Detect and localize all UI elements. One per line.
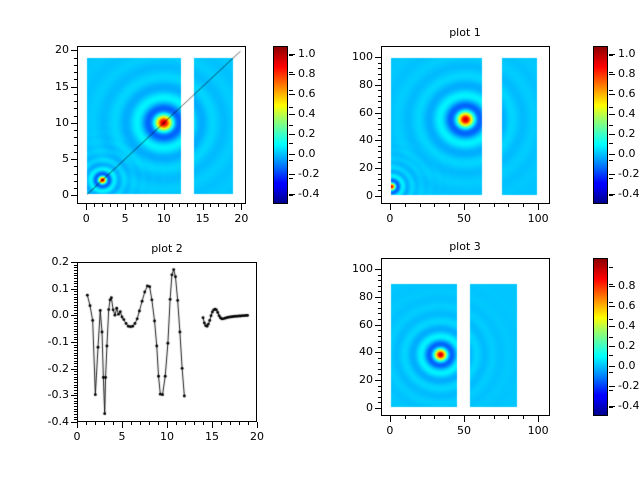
colorbar-tick-label: 0.2 <box>618 127 636 140</box>
colorbar-gradient-plot0 <box>274 47 287 203</box>
colorbar-minor-tick <box>609 160 613 161</box>
x-minor-tick <box>156 204 157 207</box>
colorbar-minor-tick <box>609 390 613 391</box>
y-minor-tick <box>74 286 77 287</box>
colorbar-minor-tick <box>289 160 293 161</box>
y-minor-tick <box>74 329 77 330</box>
y-minor-tick <box>378 179 381 180</box>
y-minor-tick <box>378 347 381 348</box>
y-minor-tick <box>74 273 77 274</box>
x-tick-label: 10 <box>144 212 184 225</box>
x-minor-tick <box>140 422 141 425</box>
colorbar-tick <box>609 154 615 155</box>
x-major-tick <box>167 422 168 428</box>
x-minor-tick <box>523 416 524 419</box>
y-minor-tick <box>378 162 381 163</box>
y-minor-tick <box>74 267 77 268</box>
colorbar-tick <box>289 134 295 135</box>
y-minor-tick <box>74 58 77 59</box>
colorbar-minor-tick <box>609 284 613 285</box>
y-minor-tick <box>74 152 77 153</box>
y-major-tick <box>375 380 381 381</box>
y-tick-label: 60 <box>327 318 373 331</box>
x-tick-label: 15 <box>183 212 223 225</box>
y-major-tick <box>375 168 381 169</box>
y-minor-tick <box>74 323 77 324</box>
colorbar-minor-tick <box>609 125 613 126</box>
colorbar-minor-tick <box>609 195 613 196</box>
colorbar-minor-tick <box>289 125 293 126</box>
plot-frame-plot3 <box>381 258 550 416</box>
colorbar-tick <box>289 174 295 175</box>
y-minor-tick <box>74 331 77 332</box>
y-minor-tick <box>74 339 77 340</box>
y-tick-label: 100 <box>327 262 373 275</box>
y-tick-label: -0.4 <box>23 415 69 428</box>
x-minor-tick <box>117 204 118 207</box>
x-major-tick <box>241 204 242 210</box>
colorbar-tick <box>609 74 615 75</box>
colorbar-tick-label: -0.2 <box>618 379 639 392</box>
x-minor-tick <box>508 416 509 419</box>
colorbar-gradient-plot1 <box>594 47 607 203</box>
y-major-tick <box>71 87 77 88</box>
y-minor-tick <box>74 130 77 131</box>
y-minor-tick <box>74 414 77 415</box>
y-major-tick <box>71 369 77 370</box>
y-minor-tick <box>378 174 381 175</box>
colorbar-minor-tick <box>609 355 613 356</box>
x-minor-tick <box>221 422 222 425</box>
y-major-tick <box>71 422 77 423</box>
y-minor-tick <box>378 79 381 80</box>
x-tick-label: 0 <box>370 212 410 225</box>
colorbar-tick <box>289 114 295 115</box>
colorbar-tick <box>609 326 615 327</box>
y-minor-tick <box>378 386 381 387</box>
colorbar-tick <box>609 134 615 135</box>
y-minor-tick <box>74 297 77 298</box>
colorbar-tick-label: 0.2 <box>298 127 316 140</box>
colorbar-tick <box>289 154 295 155</box>
y-minor-tick <box>378 107 381 108</box>
y-minor-tick <box>74 318 77 319</box>
colorbar-minor-tick <box>609 407 613 408</box>
plot-title-plot2: plot 2 <box>107 242 227 255</box>
x-minor-tick <box>226 204 227 207</box>
y-tick-label: 0 <box>327 189 373 202</box>
y-minor-tick <box>378 374 381 375</box>
y-minor-tick <box>74 382 77 383</box>
y-minor-tick <box>74 355 77 356</box>
y-minor-tick <box>74 337 77 338</box>
y-minor-tick <box>378 68 381 69</box>
x-minor-tick <box>172 204 173 207</box>
colorbar-gradient-plot3 <box>594 259 607 415</box>
y-minor-tick <box>74 326 77 327</box>
y-major-tick <box>71 50 77 51</box>
y-minor-tick <box>378 302 381 303</box>
y-minor-tick <box>74 307 77 308</box>
x-minor-tick <box>110 204 111 207</box>
y-minor-tick <box>74 313 77 314</box>
x-tick-label: 0 <box>370 424 410 437</box>
y-major-tick <box>375 196 381 197</box>
plot-title-plot3: plot 3 <box>405 240 525 253</box>
y-minor-tick <box>74 390 77 391</box>
y-tick-label: 15 <box>23 80 69 93</box>
y-minor-tick <box>74 361 77 362</box>
colorbar-tick <box>609 346 615 347</box>
y-minor-tick <box>378 308 381 309</box>
colorbar-minor-tick <box>289 143 293 144</box>
colorbar-tick-label: 0.8 <box>618 67 636 80</box>
colorbar-tick-label: -0.2 <box>618 167 639 180</box>
y-tick-label: 0 <box>327 401 373 414</box>
x-major-tick <box>538 416 539 422</box>
y-tick-label: 0.2 <box>23 255 69 268</box>
x-major-tick <box>390 204 391 210</box>
y-major-tick <box>375 408 381 409</box>
y-minor-tick <box>74 101 77 102</box>
y-tick-label: 20 <box>327 161 373 174</box>
colorbar-tick <box>609 174 615 175</box>
colorbar-minor-tick <box>289 195 293 196</box>
y-tick-label: 0 <box>23 188 69 201</box>
x-minor-tick <box>210 204 211 207</box>
y-minor-tick <box>378 124 381 125</box>
x-tick-label: 15 <box>192 430 232 443</box>
colorbar-minor-tick <box>609 372 613 373</box>
y-minor-tick <box>74 334 77 335</box>
x-minor-tick <box>523 204 524 207</box>
colorbar-minor-tick <box>609 178 613 179</box>
line-series-canvas <box>78 263 256 421</box>
y-minor-tick <box>74 145 77 146</box>
x-minor-tick <box>234 204 235 207</box>
x-minor-tick <box>131 422 132 425</box>
y-minor-tick <box>378 129 381 130</box>
colorbar-minor-tick <box>609 267 613 268</box>
x-tick-label: 50 <box>444 212 484 225</box>
y-minor-tick <box>378 402 381 403</box>
colorbar-tick-label: 0.4 <box>618 319 636 332</box>
x-minor-tick <box>508 204 509 207</box>
heatmap-image-plot3 <box>382 259 549 415</box>
y-minor-tick <box>74 174 77 175</box>
colorbar-plot0 <box>273 46 288 204</box>
colorbar-tick <box>289 74 295 75</box>
y-minor-tick <box>74 363 77 364</box>
x-minor-tick <box>148 204 149 207</box>
plot-title-plot1: plot 1 <box>405 26 525 39</box>
y-minor-tick <box>74 393 77 394</box>
x-minor-tick <box>179 204 180 207</box>
x-minor-tick <box>239 422 240 425</box>
x-tick-label: 0 <box>57 430 97 443</box>
colorbar-minor-tick <box>609 72 613 73</box>
y-tick-label: 5 <box>23 152 69 165</box>
y-minor-tick <box>378 146 381 147</box>
colorbar-tick <box>289 94 295 95</box>
y-minor-tick <box>378 358 381 359</box>
colorbar-minor-tick <box>609 319 613 320</box>
y-tick-label: 40 <box>327 133 373 146</box>
x-tick-label: 20 <box>221 212 261 225</box>
y-tick-label: -0.3 <box>23 388 69 401</box>
x-minor-tick <box>187 204 188 207</box>
x-major-tick <box>77 422 78 428</box>
y-major-tick <box>71 289 77 290</box>
colorbar-tick-label: 0.6 <box>298 87 316 100</box>
x-minor-tick <box>194 422 195 425</box>
colorbar-minor-tick <box>289 178 293 179</box>
x-tick-label: 20 <box>237 430 277 443</box>
y-minor-tick <box>378 397 381 398</box>
colorbar-tick-label: 0.6 <box>618 87 636 100</box>
y-minor-tick <box>378 391 381 392</box>
x-major-tick <box>538 204 539 210</box>
colorbar-plot1 <box>593 46 608 204</box>
x-tick-label: 5 <box>102 430 142 443</box>
colorbar-minor-tick <box>609 302 613 303</box>
y-major-tick <box>375 297 381 298</box>
x-major-tick <box>390 416 391 422</box>
y-major-tick <box>71 262 77 263</box>
plot-frame-plot2 <box>77 262 257 422</box>
colorbar-minor-tick <box>609 90 613 91</box>
colorbar-tick <box>609 286 615 287</box>
x-minor-tick <box>479 416 480 419</box>
y-minor-tick <box>74 94 77 95</box>
y-minor-tick <box>74 406 77 407</box>
x-major-tick <box>212 422 213 428</box>
y-tick-label: 0.0 <box>23 308 69 321</box>
x-minor-tick <box>420 416 421 419</box>
x-tick-label: 0 <box>66 212 106 225</box>
x-minor-tick <box>218 204 219 207</box>
y-tick-label: 20 <box>23 43 69 56</box>
x-minor-tick <box>104 422 105 425</box>
colorbar-tick <box>609 306 615 307</box>
colorbar-tick-label: 0.0 <box>298 147 316 160</box>
y-minor-tick <box>74 385 77 386</box>
plot-frame-plot0 <box>77 46 246 204</box>
colorbar-minor-tick <box>289 90 293 91</box>
x-tick-label: 50 <box>444 424 484 437</box>
colorbar-tick <box>609 114 615 115</box>
y-major-tick <box>375 352 381 353</box>
y-minor-tick <box>378 330 381 331</box>
y-minor-tick <box>378 336 381 337</box>
y-minor-tick <box>74 358 77 359</box>
y-minor-tick <box>378 341 381 342</box>
y-minor-tick <box>378 90 381 91</box>
x-major-tick <box>257 422 258 428</box>
y-tick-label: -0.2 <box>23 362 69 375</box>
y-minor-tick <box>74 265 77 266</box>
x-major-tick <box>464 204 465 210</box>
x-minor-tick <box>176 422 177 425</box>
colorbar-tick-label: 0.0 <box>618 147 636 160</box>
y-minor-tick <box>74 403 77 404</box>
y-minor-tick <box>74 270 77 271</box>
x-major-tick <box>86 204 87 210</box>
y-minor-tick <box>74 181 77 182</box>
y-minor-tick <box>378 118 381 119</box>
x-minor-tick <box>248 422 249 425</box>
y-minor-tick <box>378 185 381 186</box>
y-major-tick <box>71 159 77 160</box>
y-minor-tick <box>378 286 381 287</box>
x-minor-tick <box>185 422 186 425</box>
plot-frame-plot1 <box>381 46 550 204</box>
x-minor-tick <box>230 422 231 425</box>
y-minor-tick <box>74 347 77 348</box>
x-minor-tick <box>158 422 159 425</box>
y-minor-tick <box>74 278 77 279</box>
x-minor-tick <box>405 204 406 207</box>
y-minor-tick <box>74 401 77 402</box>
x-minor-tick <box>405 416 406 419</box>
y-minor-tick <box>74 188 77 189</box>
y-minor-tick <box>74 281 77 282</box>
y-minor-tick <box>74 72 77 73</box>
x-minor-tick <box>479 204 480 207</box>
y-minor-tick <box>378 190 381 191</box>
y-minor-tick <box>74 387 77 388</box>
x-minor-tick <box>95 422 96 425</box>
y-minor-tick <box>378 280 381 281</box>
x-minor-tick <box>434 204 435 207</box>
colorbar-tick-label: 1.0 <box>618 47 636 60</box>
y-minor-tick <box>378 135 381 136</box>
colorbar-tick-label: -0.2 <box>298 167 319 180</box>
y-major-tick <box>71 395 77 396</box>
y-minor-tick <box>74 137 77 138</box>
y-minor-tick <box>74 299 77 300</box>
y-minor-tick <box>74 411 77 412</box>
y-major-tick <box>71 315 77 316</box>
colorbar-minor-tick <box>289 55 293 56</box>
y-tick-label: -0.1 <box>23 335 69 348</box>
x-minor-tick <box>434 416 435 419</box>
y-minor-tick <box>74 417 77 418</box>
y-minor-tick <box>74 398 77 399</box>
y-minor-tick <box>74 65 77 66</box>
colorbar-tick <box>609 386 615 387</box>
x-minor-tick <box>420 204 421 207</box>
x-minor-tick <box>133 204 134 207</box>
x-major-tick <box>122 422 123 428</box>
x-major-tick <box>125 204 126 210</box>
y-minor-tick <box>74 419 77 420</box>
colorbar-tick <box>609 94 615 95</box>
y-major-tick <box>71 342 77 343</box>
heatmap-image-plot1 <box>382 47 549 203</box>
y-minor-tick <box>378 275 381 276</box>
y-minor-tick <box>378 319 381 320</box>
colorbar-tick-label: -0.4 <box>618 187 639 200</box>
y-major-tick <box>375 85 381 86</box>
y-tick-label: 100 <box>327 50 373 63</box>
y-tick-label: 40 <box>327 345 373 358</box>
y-minor-tick <box>74 116 77 117</box>
y-minor-tick <box>74 310 77 311</box>
figure-canvas: 05101520051015201.00.80.60.40.20.0-0.2-0… <box>0 0 640 480</box>
y-minor-tick <box>378 151 381 152</box>
x-minor-tick <box>203 422 204 425</box>
colorbar-tick-label: 0.2 <box>618 339 636 352</box>
x-tick-label: 100 <box>518 424 558 437</box>
y-minor-tick <box>378 313 381 314</box>
x-minor-tick <box>449 416 450 419</box>
colorbar-tick-label: 0.4 <box>298 107 316 120</box>
colorbar-tick-label: 0.8 <box>618 279 636 292</box>
x-major-tick <box>203 204 204 210</box>
y-minor-tick <box>74 409 77 410</box>
y-minor-tick <box>378 291 381 292</box>
colorbar-minor-tick <box>289 107 293 108</box>
y-tick-label: 10 <box>23 116 69 129</box>
y-minor-tick <box>74 283 77 284</box>
y-minor-tick <box>74 374 77 375</box>
y-minor-tick <box>74 366 77 367</box>
y-minor-tick <box>378 363 381 364</box>
colorbar-plot3 <box>593 258 608 416</box>
y-minor-tick <box>378 74 381 75</box>
colorbar-tick-label: -0.4 <box>618 399 639 412</box>
y-major-tick <box>375 325 381 326</box>
y-minor-tick <box>74 275 77 276</box>
colorbar-tick-label: 0.8 <box>298 67 316 80</box>
x-major-tick <box>464 416 465 422</box>
y-minor-tick <box>74 350 77 351</box>
colorbar-minor-tick <box>289 72 293 73</box>
colorbar-tick-label: 1.0 <box>298 47 316 60</box>
x-minor-tick <box>86 422 87 425</box>
y-minor-tick <box>74 321 77 322</box>
y-tick-label: 80 <box>327 290 373 303</box>
y-minor-tick <box>74 294 77 295</box>
y-minor-tick <box>74 79 77 80</box>
y-major-tick <box>71 195 77 196</box>
y-tick-label: 0.1 <box>23 282 69 295</box>
y-minor-tick <box>74 345 77 346</box>
y-major-tick <box>375 113 381 114</box>
colorbar-tick-label: -0.4 <box>298 187 319 200</box>
x-minor-tick <box>94 204 95 207</box>
colorbar-tick-label: 0.6 <box>618 299 636 312</box>
y-minor-tick <box>378 369 381 370</box>
x-tick-label: 10 <box>147 430 187 443</box>
x-minor-tick <box>195 204 196 207</box>
y-tick-label: 80 <box>327 78 373 91</box>
y-minor-tick <box>378 63 381 64</box>
colorbar-tick <box>609 366 615 367</box>
y-minor-tick <box>74 379 77 380</box>
y-minor-tick <box>378 157 381 158</box>
y-minor-tick <box>378 101 381 102</box>
y-minor-tick <box>74 302 77 303</box>
colorbar-tick-label: 0.4 <box>618 107 636 120</box>
y-major-tick <box>375 140 381 141</box>
colorbar-tick-label: 0.0 <box>618 359 636 372</box>
x-tick-label: 100 <box>518 212 558 225</box>
y-minor-tick <box>74 377 77 378</box>
x-major-tick <box>164 204 165 210</box>
x-minor-tick <box>449 204 450 207</box>
